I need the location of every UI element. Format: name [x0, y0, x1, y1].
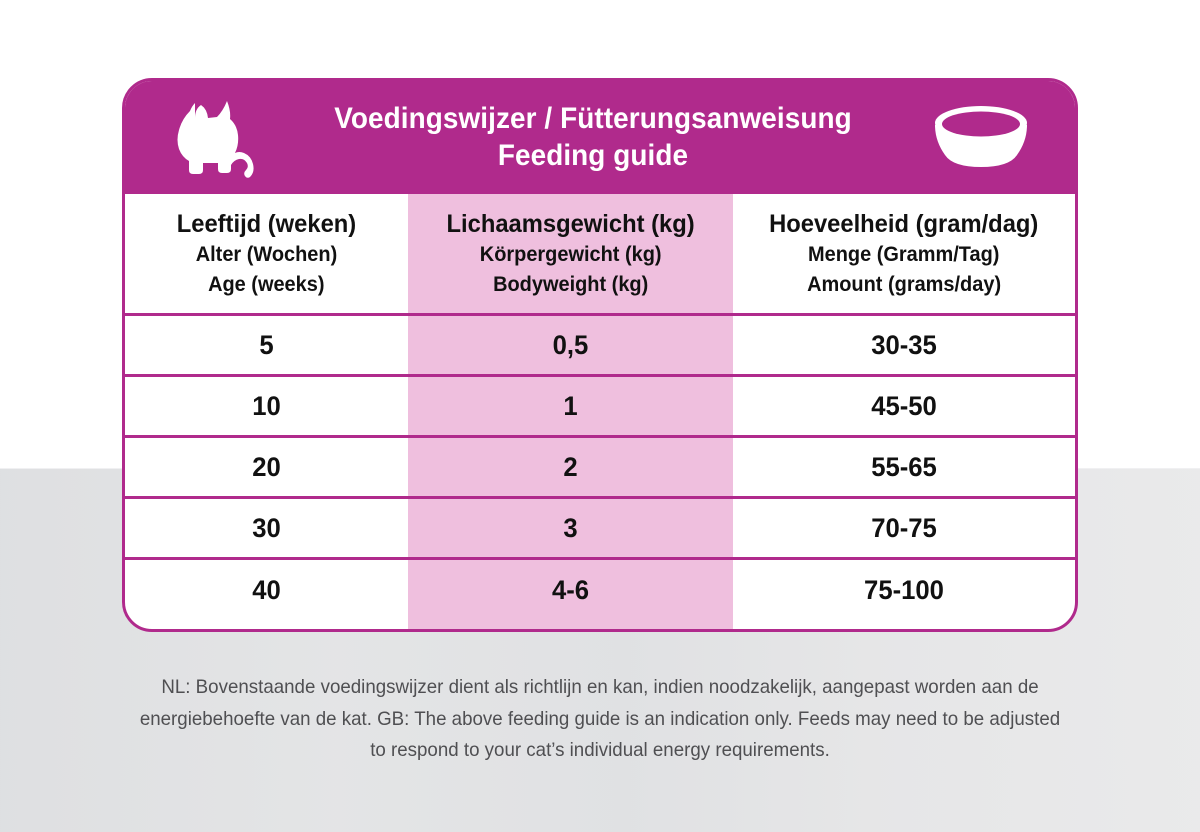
column-header-amount-en: Amount (grams/day) [807, 270, 1001, 300]
cell-age: 30 [132, 499, 401, 557]
table-title-line-2: Feeding guide [284, 138, 902, 175]
cell-age: 20 [132, 438, 401, 496]
table-row: 10 1 45-50 [125, 377, 1075, 438]
cell-amount: 70-75 [742, 499, 1067, 557]
column-header-age-nl: Leeftijd (weken) [177, 209, 356, 241]
column-header-bodyweight: Lichaamsgewicht (kg) Körpergewicht (kg) … [408, 194, 733, 313]
column-header-bodyweight-en: Bodyweight (kg) [493, 270, 648, 300]
column-header-age: Leeftijd (weken) Alter (Wochen) Age (wee… [125, 194, 408, 313]
table-title: Voedingswijzer / Fütterungsanweisung Fee… [284, 101, 902, 174]
cat-silhouette-icon [165, 95, 261, 181]
cell-weight: 3 [416, 499, 725, 557]
table-title-line-1: Voedingswijzer / Fütterungsanweisung [334, 102, 851, 135]
disclaimer-line-1: NL: Bovenstaande voedingswijzer dient al… [139, 672, 1061, 704]
disclaimer-line-3: to respond to your cat’s individual ener… [139, 735, 1061, 767]
column-header-bodyweight-nl: Lichaamsgewicht (kg) [446, 209, 694, 241]
column-header-amount-nl: Hoeveelheid (gram/dag) [769, 209, 1038, 241]
column-header-age-de: Alter (Wochen) [196, 240, 338, 270]
column-header-age-en: Age (weeks) [208, 270, 324, 300]
feeding-guide-disclaimer: NL: Bovenstaande voedingswijzer dient al… [139, 672, 1061, 767]
cell-weight: 0,5 [416, 316, 725, 374]
table-header-banner: Voedingswijzer / Fütterungsanweisung Fee… [125, 81, 1075, 194]
disclaimer-line-2: energiebehoefte van de kat. GB: The abov… [139, 704, 1061, 736]
cell-age: 40 [132, 560, 401, 621]
cell-amount: 30-35 [742, 316, 1067, 374]
cell-age: 10 [132, 377, 401, 435]
cell-age: 5 [132, 316, 401, 374]
column-header-amount: Hoeveelheid (gram/dag) Menge (Gramm/Tag)… [733, 194, 1075, 313]
table-row: 5 0,5 30-35 [125, 316, 1075, 377]
cell-amount: 45-50 [742, 377, 1067, 435]
column-header-amount-de: Menge (Gramm/Tag) [808, 240, 999, 270]
food-bowl-icon [925, 99, 1037, 177]
cell-weight: 4-6 [416, 560, 725, 621]
table-row: 30 3 70-75 [125, 499, 1075, 560]
feeding-guide-table-card: Voedingswijzer / Fütterungsanweisung Fee… [122, 78, 1078, 632]
column-header-bodyweight-de: Körpergewicht (kg) [480, 240, 662, 270]
table-row: 40 4-6 75-100 [125, 560, 1075, 621]
cell-amount: 75-100 [742, 560, 1067, 621]
table-column-header-row: Leeftijd (weken) Alter (Wochen) Age (wee… [125, 194, 1075, 316]
cell-weight: 1 [416, 377, 725, 435]
table-row: 20 2 55-65 [125, 438, 1075, 499]
cell-amount: 55-65 [742, 438, 1067, 496]
cell-weight: 2 [416, 438, 725, 496]
